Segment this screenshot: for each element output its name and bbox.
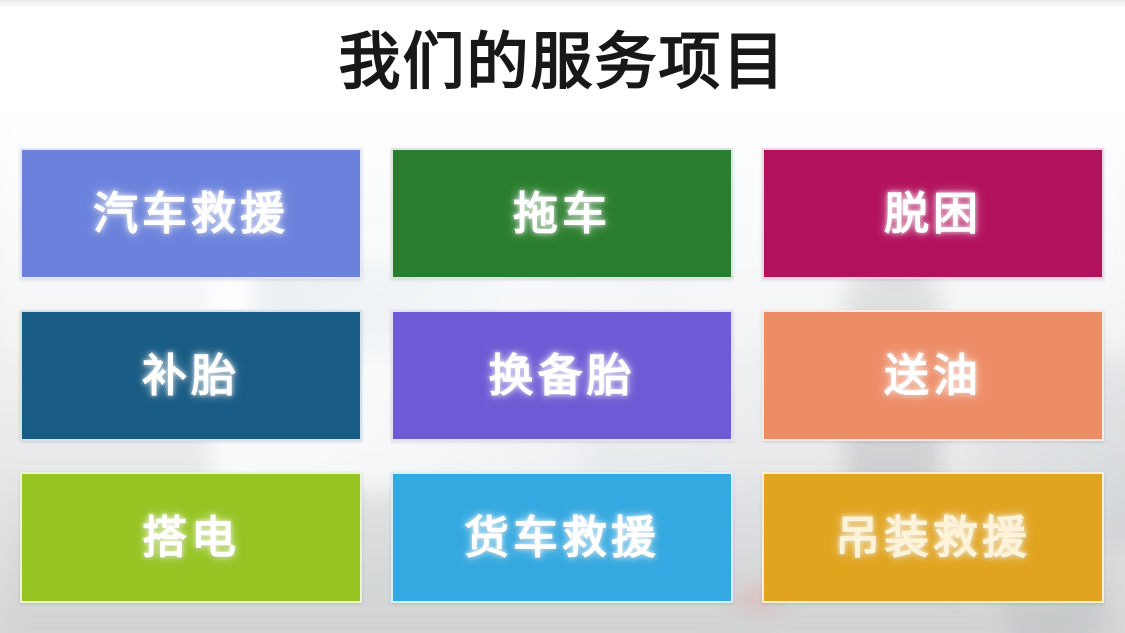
service-items-poster: 我们的服务项目 汽车救援 拖车 脱困 补胎 换备胎 送油 搭电 货车救援 吊装救… [0, 0, 1125, 633]
tile-label: 吊装救援 [835, 515, 1031, 560]
tile-extrication[interactable]: 脱困 [762, 148, 1104, 279]
page-title-text: 我们的服务项目 [338, 31, 786, 93]
tile-label: 换备胎 [488, 353, 635, 398]
tile-car-rescue[interactable]: 汽车救援 [20, 148, 362, 279]
tile-label: 送油 [884, 353, 982, 398]
tile-truck-rescue[interactable]: 货车救援 [391, 472, 733, 603]
tile-tire-repair[interactable]: 补胎 [20, 310, 362, 441]
tile-jump-start[interactable]: 搭电 [20, 472, 362, 603]
top-edge-strip [0, 0, 1125, 7]
tile-label: 脱困 [884, 191, 982, 236]
tile-label: 汽车救援 [93, 191, 289, 236]
tile-fuel-delivery[interactable]: 送油 [762, 310, 1104, 441]
service-tile-grid: 汽车救援 拖车 脱困 补胎 换备胎 送油 搭电 货车救援 吊装救援 [20, 148, 1105, 603]
tile-tow-truck[interactable]: 拖车 [391, 148, 733, 279]
tile-label: 货车救援 [464, 515, 660, 560]
tile-label: 拖车 [513, 191, 611, 236]
tile-hoisting-rescue[interactable]: 吊装救援 [762, 472, 1104, 603]
tile-spare-tire-change[interactable]: 换备胎 [391, 310, 733, 441]
tile-label: 搭电 [142, 515, 240, 560]
page-title: 我们的服务项目 [0, 14, 1125, 110]
tile-label: 补胎 [142, 353, 240, 398]
